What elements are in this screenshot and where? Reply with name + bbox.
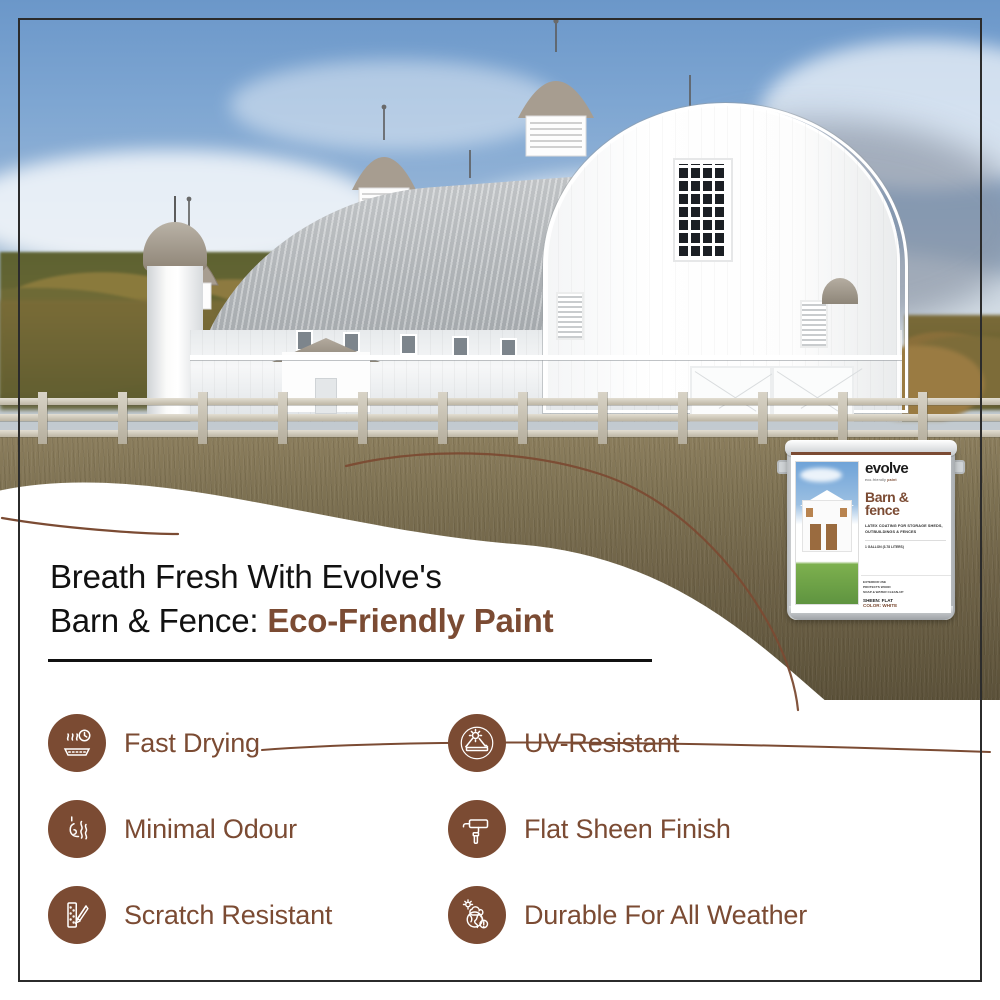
feature-item-scratch-resistant: Scratch Resistant <box>48 872 448 958</box>
barn-vent <box>800 300 828 348</box>
minimal-odour-icon <box>48 800 106 858</box>
headline-line2-plain: Barn & Fence: <box>50 602 267 639</box>
headline-text: Breath Fresh With Evolve's Barn & Fence:… <box>50 555 690 643</box>
paint-can: evolve eco-friendly paint Barn & fence L… <box>777 436 965 626</box>
label-house-photo <box>795 461 859 605</box>
feature-item-fast-drying: Fast Drying <box>48 700 448 786</box>
feature-label: Fast Drying <box>124 728 260 759</box>
feature-label: Scratch Resistant <box>124 900 332 931</box>
promo-poster: evolve eco-friendly paint Barn & fence L… <box>0 0 1000 1000</box>
feature-item-uv-resistant: UV-Resistant <box>448 700 954 786</box>
product-description: LATEX COATING FOR STORAGE SHEDS, OUTBUIL… <box>865 524 946 535</box>
feature-item-durable-for-all-weather: Durable For All Weather <box>448 872 954 958</box>
fast-drying-icon <box>48 714 106 772</box>
label-color: COLOR: WHITE <box>863 603 946 608</box>
headline: Breath Fresh With Evolve's Barn & Fence:… <box>50 555 690 643</box>
scratch-resistant-icon <box>48 886 106 944</box>
feature-label: Durable For All Weather <box>524 900 807 931</box>
barn-vent <box>556 292 584 340</box>
can-label: evolve eco-friendly paint Barn & fence L… <box>791 452 951 613</box>
brand-tagline: eco-friendly paint <box>865 478 946 482</box>
label-footer: EXTERIOR USE PROTECTS WOOD SOAP & WATER … <box>861 575 951 613</box>
barn-window <box>452 336 469 357</box>
headline-line2-accent: Eco-Friendly Paint <box>267 602 553 639</box>
barn-loft-window <box>673 158 733 262</box>
feature-list: Fast Drying UV-Resistant <box>48 700 954 958</box>
product-name: Barn & fence <box>865 491 946 518</box>
all-weather-icon <box>448 886 506 944</box>
barn-eave <box>190 355 902 360</box>
barn-window <box>400 334 417 355</box>
label-bullet: SOAP & WATER CLEAN-UP <box>863 590 946 595</box>
feature-label: Flat Sheen Finish <box>524 814 731 845</box>
brand-name: evolve <box>865 461 946 476</box>
headline-line1: Breath Fresh With Evolve's <box>50 558 442 595</box>
uv-resistant-icon <box>448 714 506 772</box>
feature-item-minimal-odour: Minimal Odour <box>48 786 448 872</box>
feature-label: Minimal Odour <box>124 814 297 845</box>
feature-label: UV-Resistant <box>524 728 679 759</box>
product-volume: 1 GALLON (3.78 LITERS) <box>865 540 946 549</box>
feature-item-flat-sheen-finish: Flat Sheen Finish <box>448 786 954 872</box>
paint-roller-icon <box>448 800 506 858</box>
headline-underline <box>48 659 652 662</box>
